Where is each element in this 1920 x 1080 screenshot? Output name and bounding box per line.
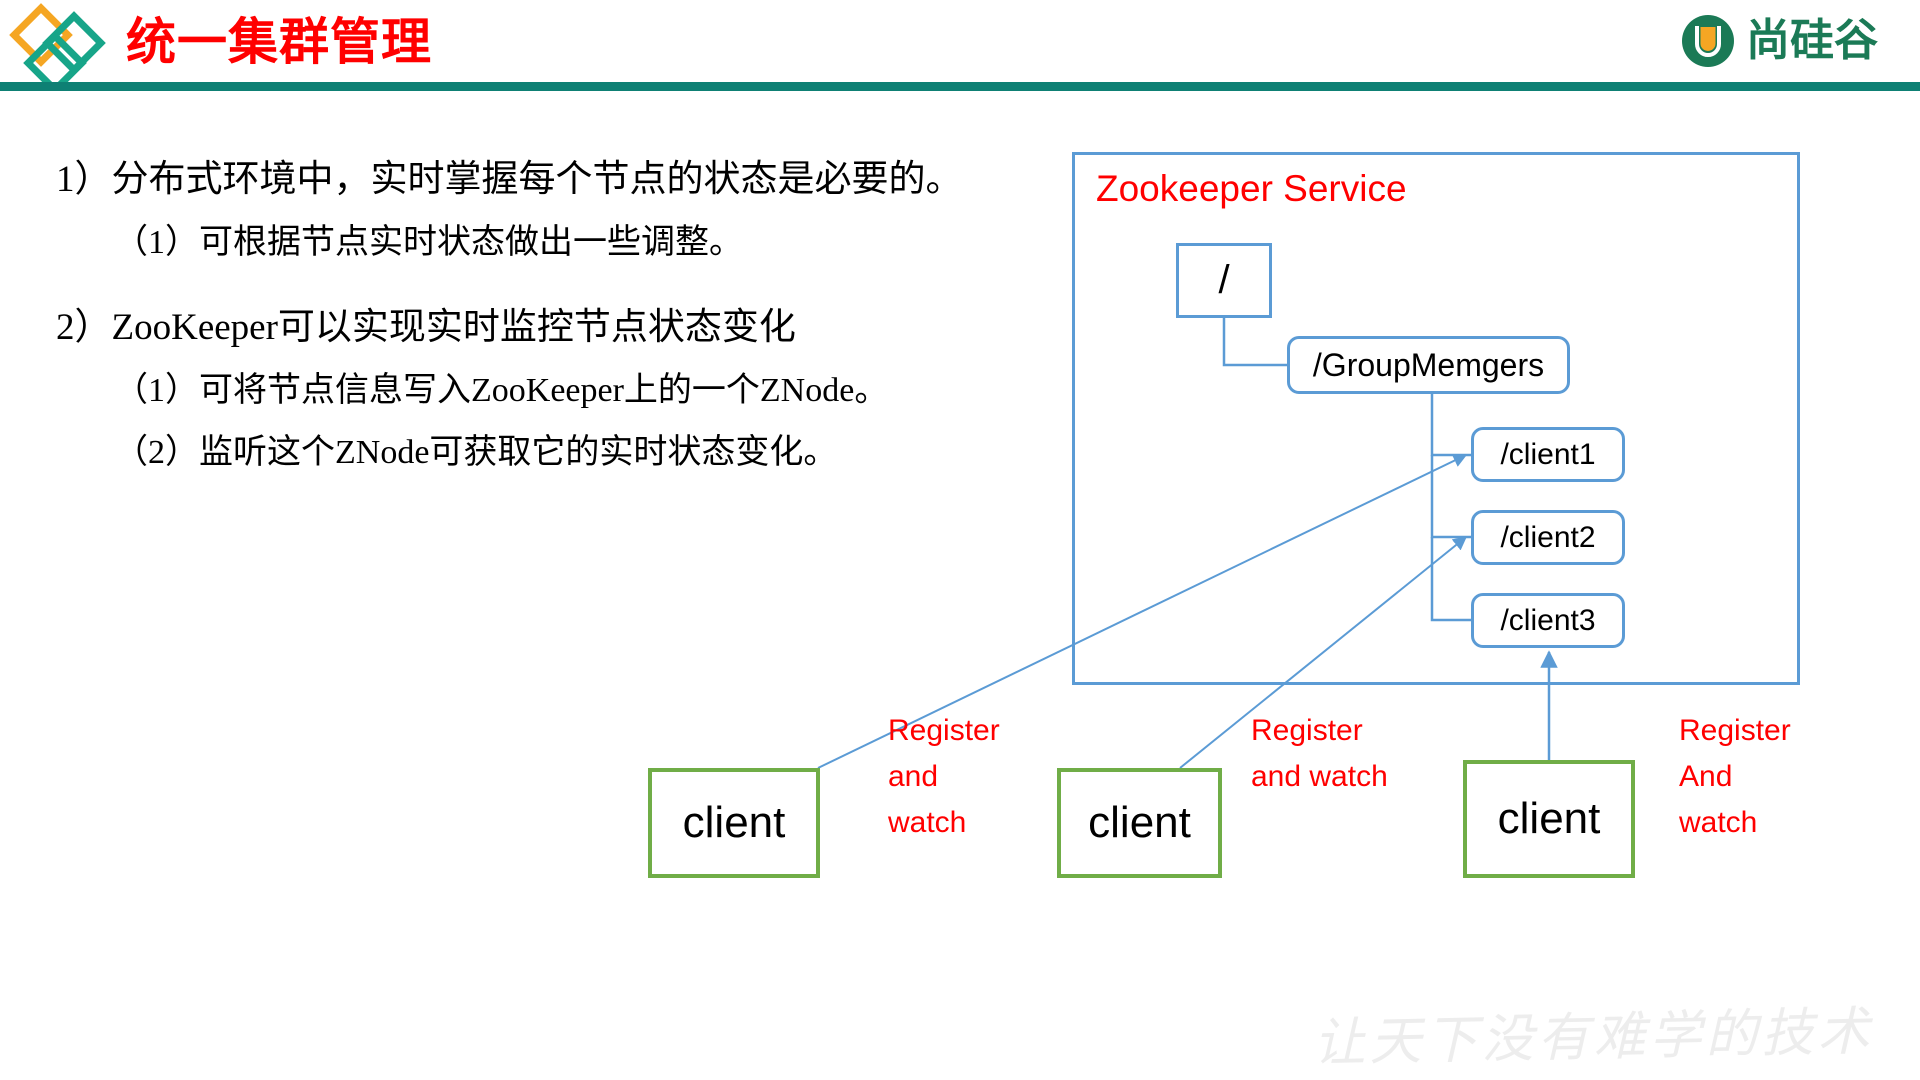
header-divider-rule xyxy=(0,82,1920,91)
znode-group-members[interactable]: /GroupMemgers xyxy=(1287,336,1570,394)
slide-header: 统一集群管理 尚硅谷 xyxy=(0,0,1920,96)
zookeeper-service-container xyxy=(1072,152,1800,685)
bullet-item-1-1: （1）可根据节点实时状态做出一些调整。 xyxy=(56,212,1056,274)
znode-client1[interactable]: /client1 xyxy=(1471,427,1625,482)
page-title: 统一集群管理 xyxy=(126,6,432,78)
zookeeper-service-title: Zookeeper Service xyxy=(1096,165,1407,213)
bullet-item-2-2: （2）监听这个ZNode可获取它的实时状态变化。 xyxy=(56,422,1056,484)
footer-watermark: 让天下没有难学的技术 xyxy=(1313,989,1874,1076)
bullet-item-1: 1）分布式环境中，实时掌握每个节点的状态是必要的。 xyxy=(56,148,1056,212)
znode-client3[interactable]: /client3 xyxy=(1471,593,1625,648)
paragraph-spacer xyxy=(56,274,1056,296)
brand-diamond-icon xyxy=(8,2,112,90)
corporate-logo: 尚硅谷 xyxy=(1680,10,1878,72)
register-watch-label-1: Register and watch xyxy=(888,708,1000,846)
corporate-logo-text: 尚硅谷 xyxy=(1746,13,1878,69)
znode-client2[interactable]: /client2 xyxy=(1471,510,1625,565)
client-box-2[interactable]: client xyxy=(1057,768,1222,878)
client-box-1[interactable]: client xyxy=(648,768,820,878)
client-box-3[interactable]: client xyxy=(1463,760,1635,878)
shangguigu-u-icon xyxy=(1680,13,1736,69)
register-watch-label-3: Register And watch xyxy=(1679,708,1791,846)
slide-body-text: 1）分布式环境中，实时掌握每个节点的状态是必要的。 （1）可根据节点实时状态做出… xyxy=(56,148,1056,484)
register-watch-label-2: Register and watch xyxy=(1251,708,1388,800)
znode-root[interactable]: / xyxy=(1176,243,1272,318)
bullet-item-2-1: （1）可将节点信息写入ZooKeeper上的一个ZNode。 xyxy=(56,360,1056,422)
bullet-item-2: 2）ZooKeeper可以实现实时监控节点状态变化 xyxy=(56,296,1056,360)
